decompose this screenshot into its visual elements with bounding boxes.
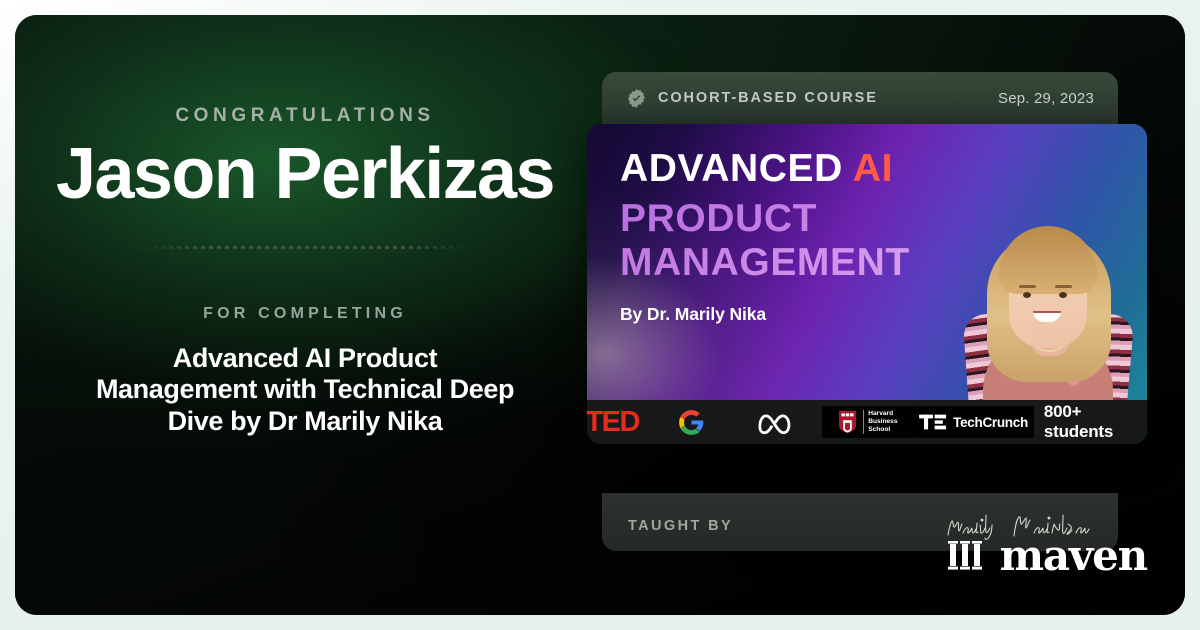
techcrunch-wordmark: TechCrunch	[953, 415, 1028, 430]
course-type-group: COHORT-BASED COURSE	[626, 88, 878, 109]
course-title: Advanced AI Product Management with Tech…	[95, 343, 515, 438]
harvard-business-school-logo: Harvard Business School	[822, 406, 914, 438]
taught-by-label: TAUGHT BY	[628, 518, 733, 534]
thumbnail-title-line3: MANAGEMENT	[620, 241, 910, 285]
course-widget[interactable]: COHORT-BASED COURSE Sep. 29, 2023 ADVANC…	[587, 72, 1147, 497]
recipient-name: Jason Perkizas	[56, 139, 554, 210]
thumbnail-title-line1: ADVANCED AI	[620, 148, 910, 189]
course-thumbnail[interactable]: ADVANCED AI PRODUCT MANAGEMENT By Dr. Ma…	[587, 124, 1147, 444]
page-frame: CONGRATULATIONS Jason Perkizas FOR COMPL…	[0, 0, 1200, 630]
certificate-left-column: CONGRATULATIONS Jason Perkizas FOR COMPL…	[15, 15, 595, 615]
thumbnail-byline: By Dr. Marily Nika	[620, 304, 910, 325]
dotted-divider	[135, 246, 475, 249]
certificate-card: CONGRATULATIONS Jason Perkizas FOR COMPL…	[15, 15, 1185, 615]
social-proof-logo-strip: TED	[587, 400, 1147, 444]
meta-logo	[736, 407, 821, 437]
photo-eye-left	[1023, 292, 1031, 298]
harvard-logo-text: Harvard Business School	[863, 410, 897, 435]
harvard-line2: Business	[868, 418, 897, 426]
congratulations-label: CONGRATULATIONS	[175, 105, 434, 127]
ted-logo: TED	[587, 407, 647, 437]
techcrunch-logo: TechCrunch	[913, 406, 1034, 438]
verified-badge-icon	[626, 88, 647, 109]
photo-hair-front	[999, 226, 1097, 294]
thumbnail-title-line2: PRODUCT	[620, 197, 910, 241]
harvard-line1: Harvard	[868, 410, 897, 418]
maven-wordmark: maven	[1000, 535, 1147, 577]
maven-pillars-icon	[947, 539, 983, 573]
photo-brow-right	[1055, 285, 1072, 288]
course-type-label: COHORT-BASED COURSE	[658, 90, 878, 106]
photo-eye-right	[1059, 292, 1067, 298]
for-completing-label: FOR COMPLETING	[203, 305, 407, 323]
maven-logo[interactable]: maven	[947, 535, 1147, 577]
harvard-line3: School	[868, 426, 897, 434]
thumbnail-title-ai: AI	[853, 147, 893, 190]
course-widget-header: COHORT-BASED COURSE Sep. 29, 2023	[602, 72, 1118, 130]
thumbnail-title-block: ADVANCED AI PRODUCT MANAGEMENT By Dr. Ma…	[620, 148, 910, 325]
photo-brow-left	[1019, 285, 1036, 288]
course-date: Sep. 29, 2023	[998, 90, 1094, 107]
google-logo	[647, 407, 736, 437]
thumbnail-title-advanced: ADVANCED	[620, 147, 843, 190]
students-count: 800+ students	[1044, 402, 1147, 442]
